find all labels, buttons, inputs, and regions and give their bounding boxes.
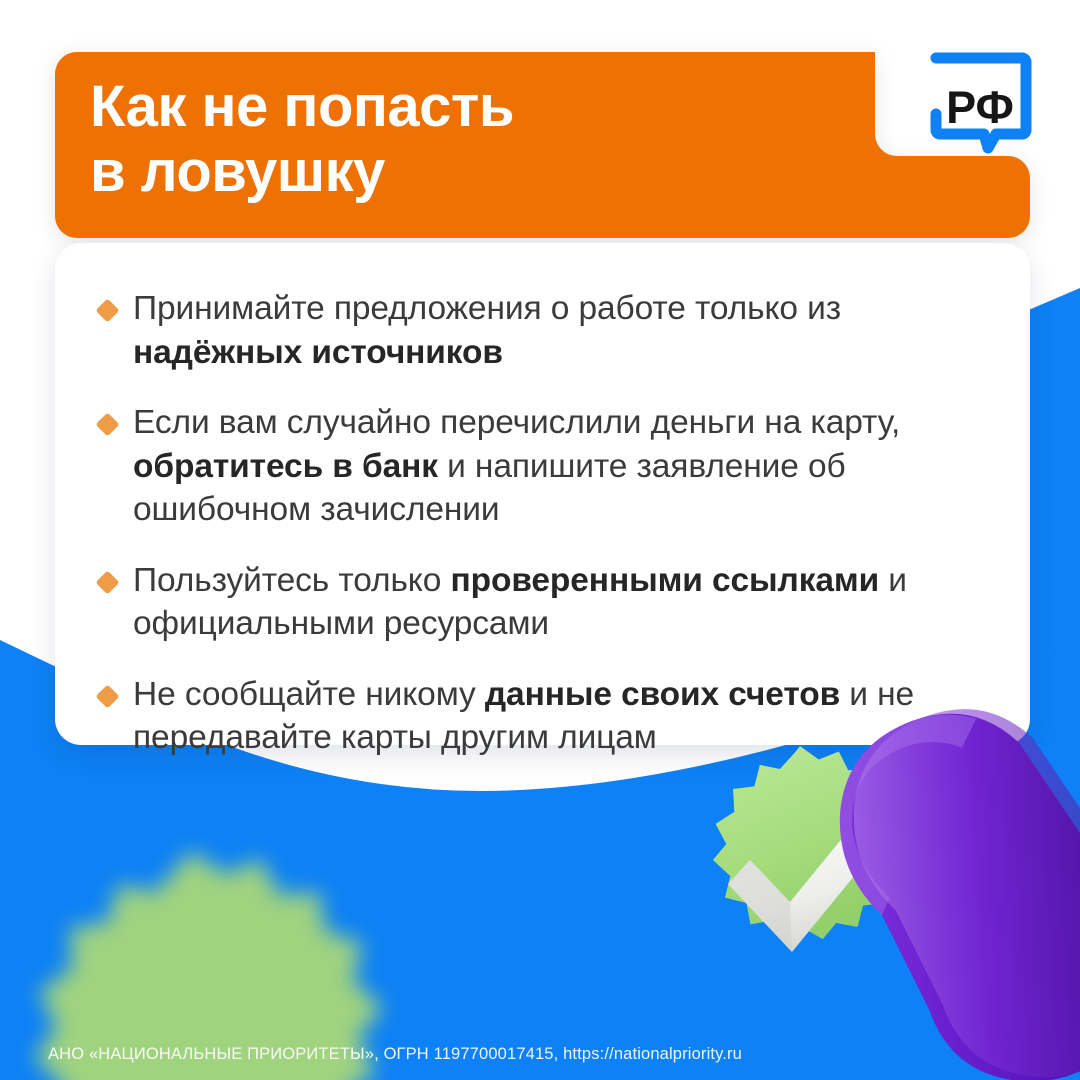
list-item-plain: Если вам случайно перечислили деньги на …: [133, 404, 900, 441]
diamond-bullet-icon: [95, 570, 119, 594]
rf-logo-icon: РФ: [922, 44, 1038, 160]
tips-list: Принимайте предложения о работе только и…: [55, 243, 1030, 760]
list-item-text: Принимайте предложения о работе только и…: [133, 287, 978, 374]
list-item-text: Пользуйтесь только проверенными ссылками…: [133, 559, 978, 646]
page-title: Как не попасть в ловушку: [90, 75, 514, 205]
list-item: Принимайте предложения о работе только и…: [99, 287, 978, 374]
infographic-poster: Как не попасть в ловушку РФ Принимайте п…: [0, 0, 1080, 1080]
diamond-bullet-icon: [95, 684, 119, 708]
list-item-emphasis: надёжных источников: [133, 334, 503, 371]
list-item-plain: Принимайте предложения о работе только и…: [133, 290, 841, 327]
list-item-text: Если вам случайно перечислили деньги на …: [133, 401, 978, 532]
diamond-bullet-icon: [95, 413, 119, 437]
list-item: Если вам случайно перечислили деньги на …: [99, 401, 978, 532]
tips-card: Принимайте предложения о работе только и…: [55, 243, 1030, 745]
list-item-emphasis: проверенными ссылками: [450, 562, 879, 599]
diamond-bullet-icon: [95, 298, 119, 322]
phone-and-badge-illustration: [640, 690, 1080, 1080]
list-item: Пользуйтесь только проверенными ссылками…: [99, 559, 978, 646]
logo-text: РФ: [946, 82, 1014, 133]
list-item-emphasis: обратитесь в банк: [133, 448, 438, 485]
list-item-plain: Пользуйтесь только: [133, 562, 450, 599]
footer-credits: АНО «НАЦИОНАЛЬНЫЕ ПРИОРИТЕТЫ», ОГРН 1197…: [48, 1045, 742, 1064]
list-item-plain: Не сообщайте никому: [133, 676, 485, 713]
